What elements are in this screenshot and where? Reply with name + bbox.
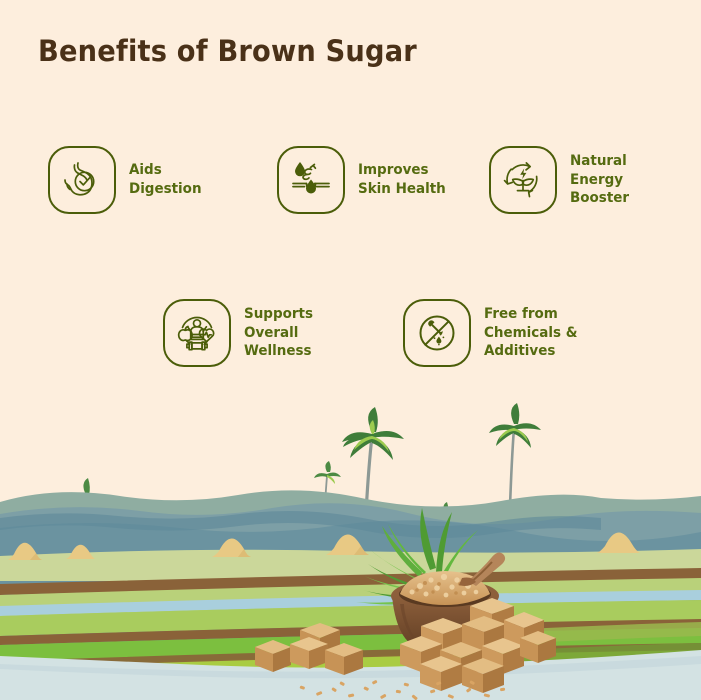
benefit-item-free-from-chemicals-additives[interactable]: Free from Chemicals & Additives (403, 299, 582, 367)
benefit-label: Natural Energy Booster (570, 152, 629, 208)
benefit-item-supports-overall-wellness[interactable]: Supports Overall Wellness (163, 299, 317, 367)
benefit-item-improves-skin-health[interactable]: Improves Skin Health (277, 146, 450, 214)
benefit-label: Improves Skin Health (358, 161, 446, 198)
benefit-label: Free from Chemicals & Additives (484, 305, 577, 361)
benefit-label: Supports Overall Wellness (244, 305, 313, 361)
wellness-person-icon (163, 299, 231, 367)
recycle-sprout-energy-icon (489, 146, 557, 214)
sugarcane-field-scene (0, 398, 701, 700)
benefit-item-natural-energy-booster[interactable]: Natural Energy Booster (489, 146, 632, 214)
benefit-label: Aids Digestion (129, 161, 202, 198)
benefit-item-aids-digestion[interactable]: Aids Digestion (48, 146, 205, 214)
skin-droplet-icon (277, 146, 345, 214)
page-title: Benefits of Brown Sugar (38, 34, 417, 68)
infographic-poster: Benefits of Brown Sugar Aids Digestion (0, 0, 701, 700)
no-chemicals-dropper-icon (403, 299, 471, 367)
stomach-check-icon (48, 146, 116, 214)
